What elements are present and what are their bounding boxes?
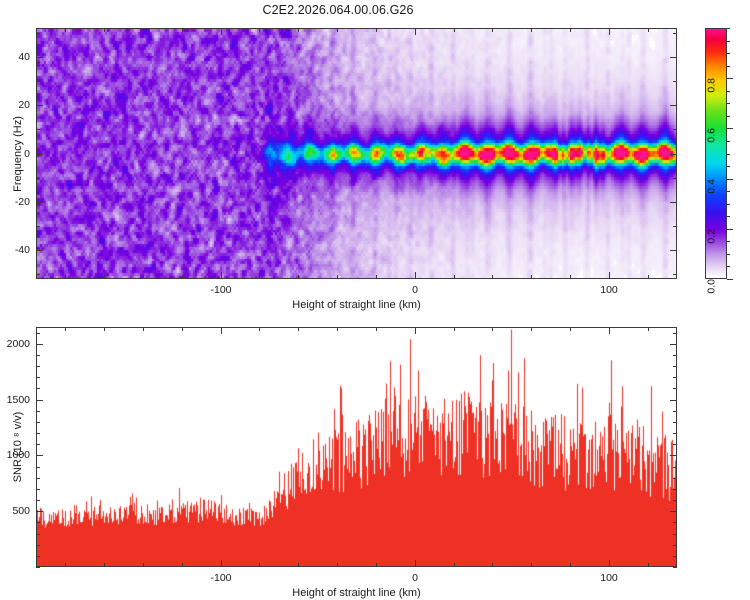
y-tick-label: 20 <box>0 99 30 111</box>
x-tick-label: 0 <box>412 284 418 296</box>
colorbar-tick-label: 0.0 <box>706 279 718 294</box>
x-tick-label: 100 <box>600 572 618 584</box>
colorbar-tick-label: 0.6 <box>706 128 718 143</box>
colorbar-tick-label: 0.4 <box>706 179 718 194</box>
colorbar-tick-label: 0.8 <box>706 78 718 93</box>
snr-x-axis-title: Height of straight line (km) <box>292 587 420 599</box>
x-tick-label: -100 <box>210 572 231 584</box>
y-tick-label: 2000 <box>0 338 30 350</box>
snr-trace-plot <box>37 328 676 566</box>
y-tick-label: 500 <box>0 505 30 517</box>
y-tick-label: 40 <box>0 51 30 63</box>
y-tick-label: 1500 <box>0 394 30 406</box>
spectrogram-x-axis-title: Height of straight line (km) <box>292 299 420 311</box>
x-tick-label: 0 <box>412 572 418 584</box>
spectrogram-image <box>37 29 676 278</box>
figure-root: C2E2.2026.064.00.06.G26 -1000100 -40-200… <box>0 0 750 600</box>
snr-y-axis-title: SNR (10 ⁸ v/v) <box>12 412 24 483</box>
colorbar-tick-label: 0.2 <box>706 229 718 244</box>
x-tick-label: -100 <box>210 284 231 296</box>
snr-panel <box>36 327 677 567</box>
y-tick-label: -20 <box>0 196 30 208</box>
spectrogram-panel <box>36 28 677 279</box>
y-tick-label: -40 <box>0 244 30 256</box>
spectrogram-y-axis-title: Frequency (Hz) <box>12 116 24 192</box>
x-tick-label: 100 <box>600 284 618 296</box>
page-title: C2E2.2026.064.00.06.G26 <box>0 3 676 17</box>
